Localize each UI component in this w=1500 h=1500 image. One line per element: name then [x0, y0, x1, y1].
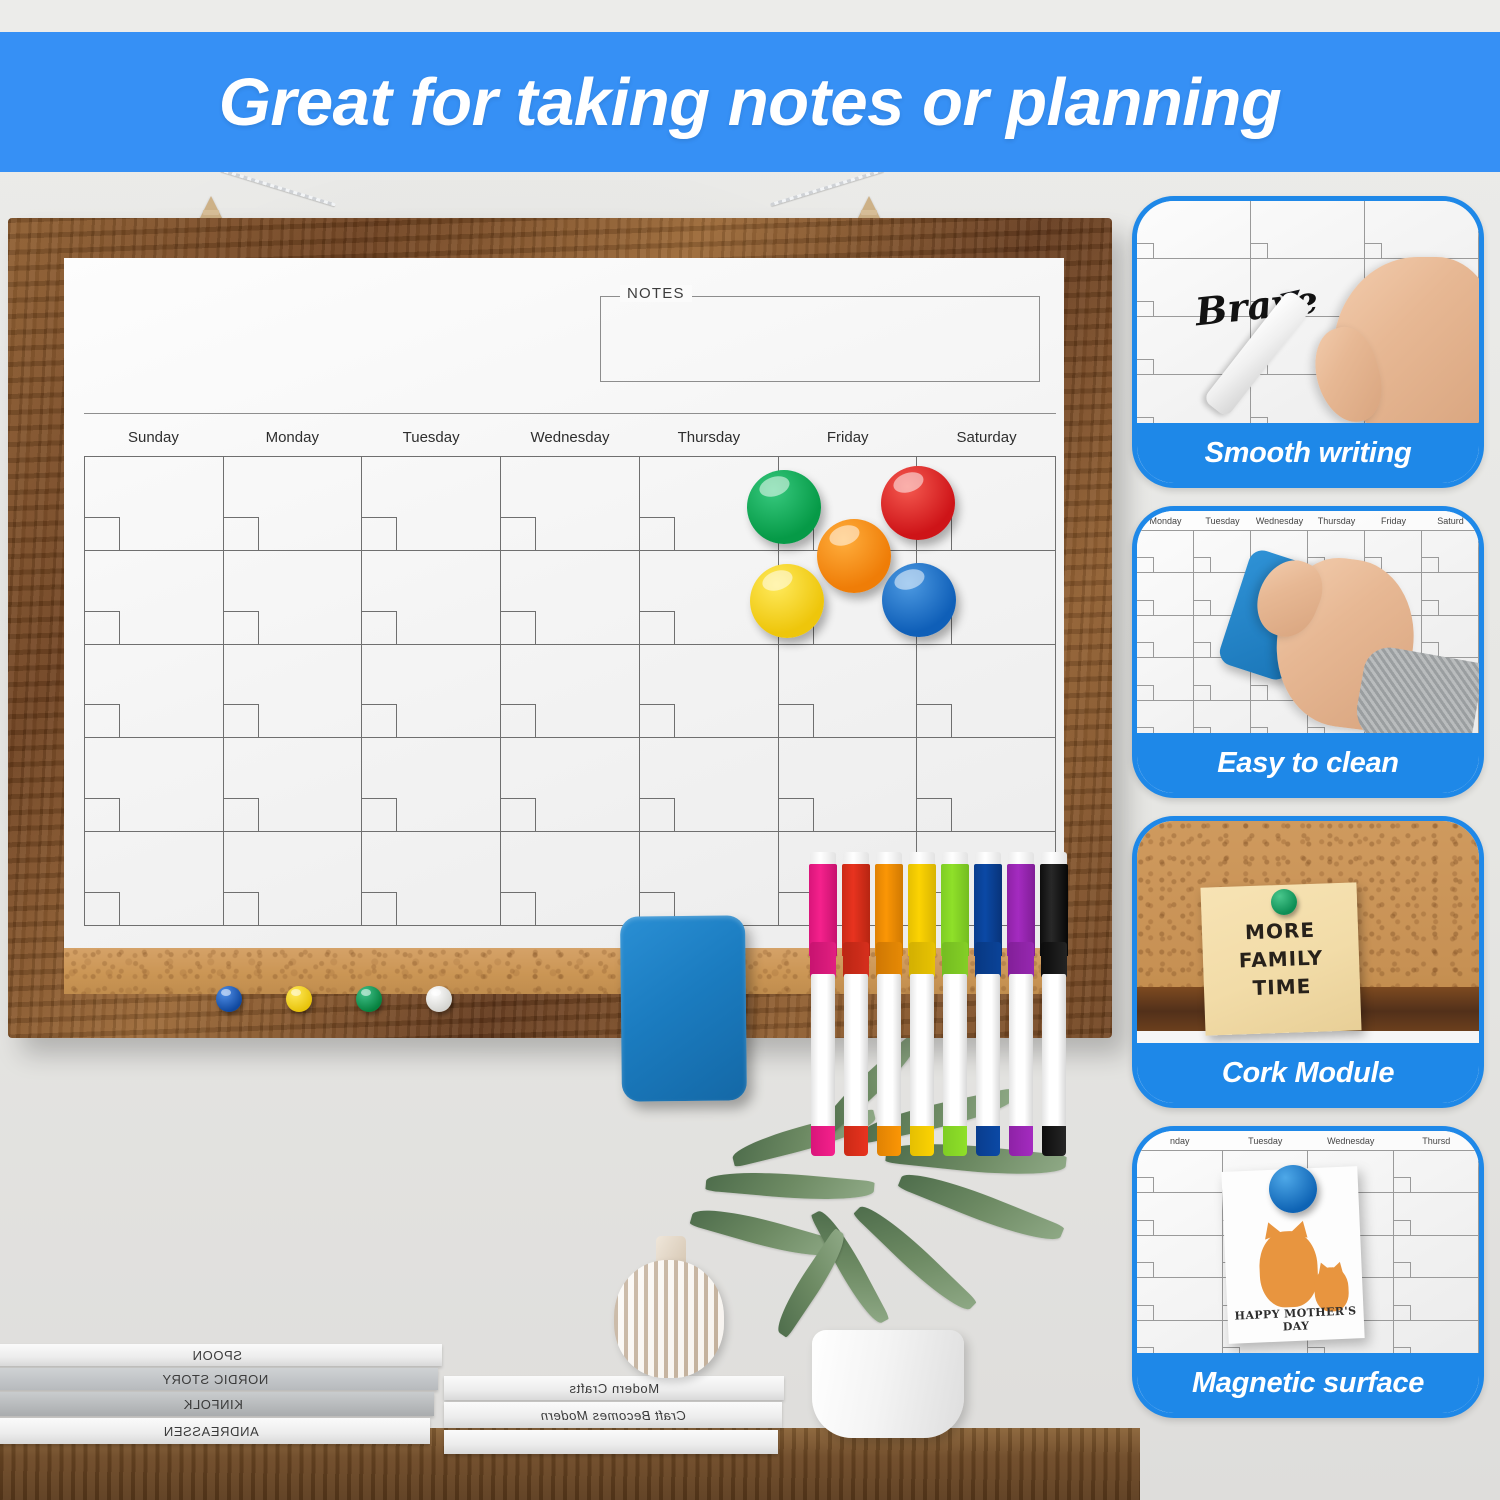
- panel-photo-cork-module: MORE FAMILY TIME: [1137, 821, 1479, 1053]
- panel-label-easy-to-clean: Easy to clean: [1137, 733, 1479, 793]
- panel-photo-smooth-writing: Brave: [1137, 201, 1479, 433]
- feature-panel-cork-module[interactable]: MORE FAMILY TIME Cork Module: [1132, 816, 1484, 1108]
- feature-panel-list: Brave Smooth writing Monday Tuesday Wedn…: [1132, 196, 1494, 1418]
- yellow-magnet[interactable]: [750, 564, 824, 638]
- mini-cell: [1394, 1193, 1480, 1235]
- calendar-cell[interactable]: [85, 645, 224, 739]
- book-title: Modern Crafts: [444, 1381, 784, 1396]
- marker-endcap: [811, 1126, 835, 1156]
- marker-collar: [1041, 942, 1067, 978]
- leaf: [705, 1167, 874, 1206]
- marker-endcap: [976, 1126, 1000, 1156]
- calendar-cell[interactable]: [224, 551, 363, 645]
- mini-day-header: nday Tuesday Wednesday Thursd: [1137, 1131, 1479, 1151]
- purple-marker[interactable]: [1007, 864, 1035, 1156]
- green-pushpin[interactable]: [1271, 889, 1297, 915]
- calendar-cell[interactable]: [224, 832, 363, 926]
- panel-label-smooth-writing: Smooth writing: [1137, 423, 1479, 483]
- frame-hanger-left: [200, 196, 222, 218]
- day-name-wednesday: Wednesday: [501, 429, 640, 446]
- mini-day-friday: Friday: [1365, 516, 1422, 526]
- marker-barrel: [877, 974, 901, 1132]
- blue-marker[interactable]: [974, 864, 1002, 1156]
- mini-cell: [1422, 616, 1479, 658]
- calendar-cell[interactable]: [224, 738, 363, 832]
- sticky-line-1: MORE: [1245, 918, 1316, 944]
- headline-text: Great for taking notes or planning: [219, 64, 1282, 141]
- book-spine: Craft Becomes Modern: [444, 1402, 782, 1428]
- yellow-marker[interactable]: [908, 864, 936, 1156]
- marker-endcap: [1009, 1126, 1033, 1156]
- blue-pushpin[interactable]: [216, 986, 242, 1012]
- mini-cell: [1422, 573, 1479, 615]
- blue-magnet[interactable]: [1269, 1165, 1317, 1213]
- mini-day-thursday: Thursday: [1308, 516, 1365, 526]
- whiteboard-surface[interactable]: NOTES Sunday Monday Tuesday Wednesday Th…: [64, 258, 1064, 948]
- mini-day-saturday: Saturd: [1422, 516, 1479, 526]
- mini-cell: [1137, 1193, 1223, 1235]
- book-title: Craft Becomes Modern: [444, 1408, 782, 1423]
- book-spine: [444, 1430, 778, 1454]
- mini-day-header: Monday Tuesday Wednesday Thursday Friday…: [1137, 511, 1479, 531]
- mini-cell: [1137, 1278, 1223, 1320]
- marker-barrel: [1009, 974, 1033, 1132]
- board-inner: NOTES Sunday Monday Tuesday Wednesday Th…: [64, 258, 1064, 994]
- mini-day-tuesday: Tuesday: [1194, 516, 1251, 526]
- marker-barrel: [976, 974, 1000, 1132]
- mini-cell: [1137, 658, 1194, 700]
- book-title: SPOON: [0, 1348, 442, 1363]
- book-title: ANDREASSEN: [0, 1424, 430, 1439]
- book-spine: NORDIC STORY: [0, 1368, 438, 1390]
- marker-barrel: [1042, 974, 1066, 1132]
- mini-cell: [1251, 201, 1365, 259]
- calendar-cell[interactable]: [362, 832, 501, 926]
- mini-cell: [1137, 616, 1194, 658]
- black-marker[interactable]: [1040, 864, 1068, 1156]
- marker-collar: [843, 942, 869, 978]
- striped-vase: [614, 1260, 724, 1378]
- green-magnet[interactable]: [747, 470, 821, 544]
- marker-endcap: [1042, 1126, 1066, 1156]
- marker-endcap: [910, 1126, 934, 1156]
- whiteboard-frame: NOTES Sunday Monday Tuesday Wednesday Th…: [8, 218, 1112, 1038]
- calendar-cell[interactable]: [501, 457, 640, 551]
- mini-cell: [1137, 1151, 1223, 1193]
- feature-panel-magnetic-surface[interactable]: nday Tuesday Wednesday Thursd: [1132, 1126, 1484, 1418]
- mini-day-tuesday: Tuesday: [1223, 1136, 1309, 1146]
- panel-photo-magnetic-surface: nday Tuesday Wednesday Thursd: [1137, 1131, 1479, 1363]
- yellow-pushpin[interactable]: [286, 986, 312, 1012]
- mini-cell: [1194, 531, 1251, 573]
- red-marker[interactable]: [842, 864, 870, 1156]
- panel-photo-easy-to-clean: Monday Tuesday Wednesday Thursday Friday…: [1137, 511, 1479, 743]
- notes-section[interactable]: NOTES: [600, 296, 1040, 382]
- book-spine: SPOON: [0, 1344, 442, 1366]
- mini-cell: [1137, 1236, 1223, 1278]
- calendar-cell[interactable]: [779, 738, 918, 832]
- mini-cell: [1137, 201, 1251, 259]
- white-pushpin[interactable]: [426, 986, 452, 1012]
- calendar-cell[interactable]: [501, 645, 640, 739]
- calendar-cell[interactable]: [640, 832, 779, 926]
- white-ceramic-pot: [812, 1330, 964, 1438]
- mini-cell: [1394, 1151, 1480, 1193]
- book-title: KINFOLK: [0, 1397, 434, 1412]
- book-stack-right: Modern Crafts Craft Becomes Modern: [444, 1376, 784, 1454]
- marker-barrel: [811, 974, 835, 1132]
- red-magnet[interactable]: [881, 466, 955, 540]
- mini-cell: [1394, 1278, 1480, 1320]
- mini-cell: [1422, 531, 1479, 573]
- marker-endcap: [844, 1126, 868, 1156]
- calendar-cell[interactable]: [362, 738, 501, 832]
- marker-endcap: [877, 1126, 901, 1156]
- calendar-day-header: Sunday Monday Tuesday Wednesday Thursday…: [84, 421, 1056, 453]
- sticky-line-3: TIME: [1252, 974, 1311, 1000]
- leaf: [897, 1163, 1064, 1251]
- notes-label: NOTES: [620, 285, 692, 302]
- headline-banner: Great for taking notes or planning: [0, 32, 1500, 172]
- book-spine: ANDREASSEN: [0, 1418, 430, 1444]
- day-name-saturday: Saturday: [917, 429, 1056, 446]
- calendar-cell[interactable]: [640, 645, 779, 739]
- calendar-cell[interactable]: [501, 832, 640, 926]
- calendar-cell[interactable]: [85, 738, 224, 832]
- calendar-cell[interactable]: [362, 551, 501, 645]
- day-name-monday: Monday: [223, 429, 362, 446]
- calendar-cell[interactable]: [85, 551, 224, 645]
- sticky-line-2: FAMILY: [1238, 946, 1323, 973]
- day-name-thursday: Thursday: [639, 429, 778, 446]
- green-pushpin[interactable]: [356, 986, 382, 1012]
- book-title: NORDIC STORY: [0, 1372, 438, 1387]
- mini-day-wednesday: Wednesday: [1308, 1136, 1394, 1146]
- marker-barrel: [910, 974, 934, 1132]
- blue-magnet[interactable]: [882, 563, 956, 637]
- notes-box[interactable]: [600, 296, 1040, 382]
- mother-cat: [1258, 1230, 1319, 1308]
- calendar-cell[interactable]: [501, 551, 640, 645]
- calendar-cell[interactable]: [224, 645, 363, 739]
- marker-barrel: [844, 974, 868, 1132]
- blue-eraser[interactable]: [620, 915, 747, 1101]
- pink-marker[interactable]: [809, 864, 837, 1156]
- calendar-cell[interactable]: [362, 645, 501, 739]
- marker-collar: [1008, 942, 1034, 978]
- mini-cell: [1365, 201, 1479, 259]
- day-name-friday: Friday: [778, 429, 917, 446]
- marker-collar: [975, 942, 1001, 978]
- book-spine: KINFOLK: [0, 1392, 434, 1416]
- mini-day-wednesday: Wednesday: [1251, 516, 1308, 526]
- orange-magnet[interactable]: [817, 519, 891, 593]
- marker-barrel: [943, 974, 967, 1132]
- calendar-cell[interactable]: [85, 457, 224, 551]
- book-spine: Modern Crafts: [444, 1376, 784, 1400]
- marker-set[interactable]: [809, 864, 1077, 1156]
- calendar-cell[interactable]: [917, 738, 1056, 832]
- card-caption: HAPPY MOTHER'S DAY: [1227, 1304, 1364, 1336]
- mini-cell: [1137, 573, 1194, 615]
- marker-collar: [909, 942, 935, 978]
- calendar-top-rule: [84, 413, 1056, 414]
- calendar-cell[interactable]: [501, 738, 640, 832]
- day-name-sunday: Sunday: [84, 429, 223, 446]
- feature-panel-smooth-writing[interactable]: Brave Smooth writing: [1132, 196, 1484, 488]
- day-name-tuesday: Tuesday: [362, 429, 501, 446]
- calendar-cell[interactable]: [224, 457, 363, 551]
- marker-endcap: [943, 1126, 967, 1156]
- calendar-cell[interactable]: [779, 645, 918, 739]
- feature-panel-easy-to-clean[interactable]: Monday Tuesday Wednesday Thursday Friday…: [1132, 506, 1484, 798]
- marker-collar: [876, 942, 902, 978]
- calendar-cell[interactable]: [362, 457, 501, 551]
- marker-collar: [810, 942, 836, 978]
- calendar-cell[interactable]: [640, 738, 779, 832]
- frame-hanger-right: [858, 196, 880, 218]
- marker-collar: [942, 942, 968, 978]
- mini-day-monday: Monday: [1137, 516, 1194, 526]
- green-marker[interactable]: [941, 864, 969, 1156]
- mini-cell: [1137, 531, 1194, 573]
- calendar-cell[interactable]: [917, 645, 1056, 739]
- mini-day-thursday: Thursd: [1394, 1136, 1480, 1146]
- panel-label-cork-module: Cork Module: [1137, 1043, 1479, 1103]
- panel-label-magnetic-surface: Magnetic surface: [1137, 1353, 1479, 1413]
- mini-cell: [1394, 1236, 1480, 1278]
- mini-day-monday: nday: [1137, 1136, 1223, 1146]
- orange-marker[interactable]: [875, 864, 903, 1156]
- calendar-cell[interactable]: [85, 832, 224, 926]
- book-stack-left: SPOON NORDIC STORY KINFOLK ANDREASSEN: [0, 1344, 442, 1444]
